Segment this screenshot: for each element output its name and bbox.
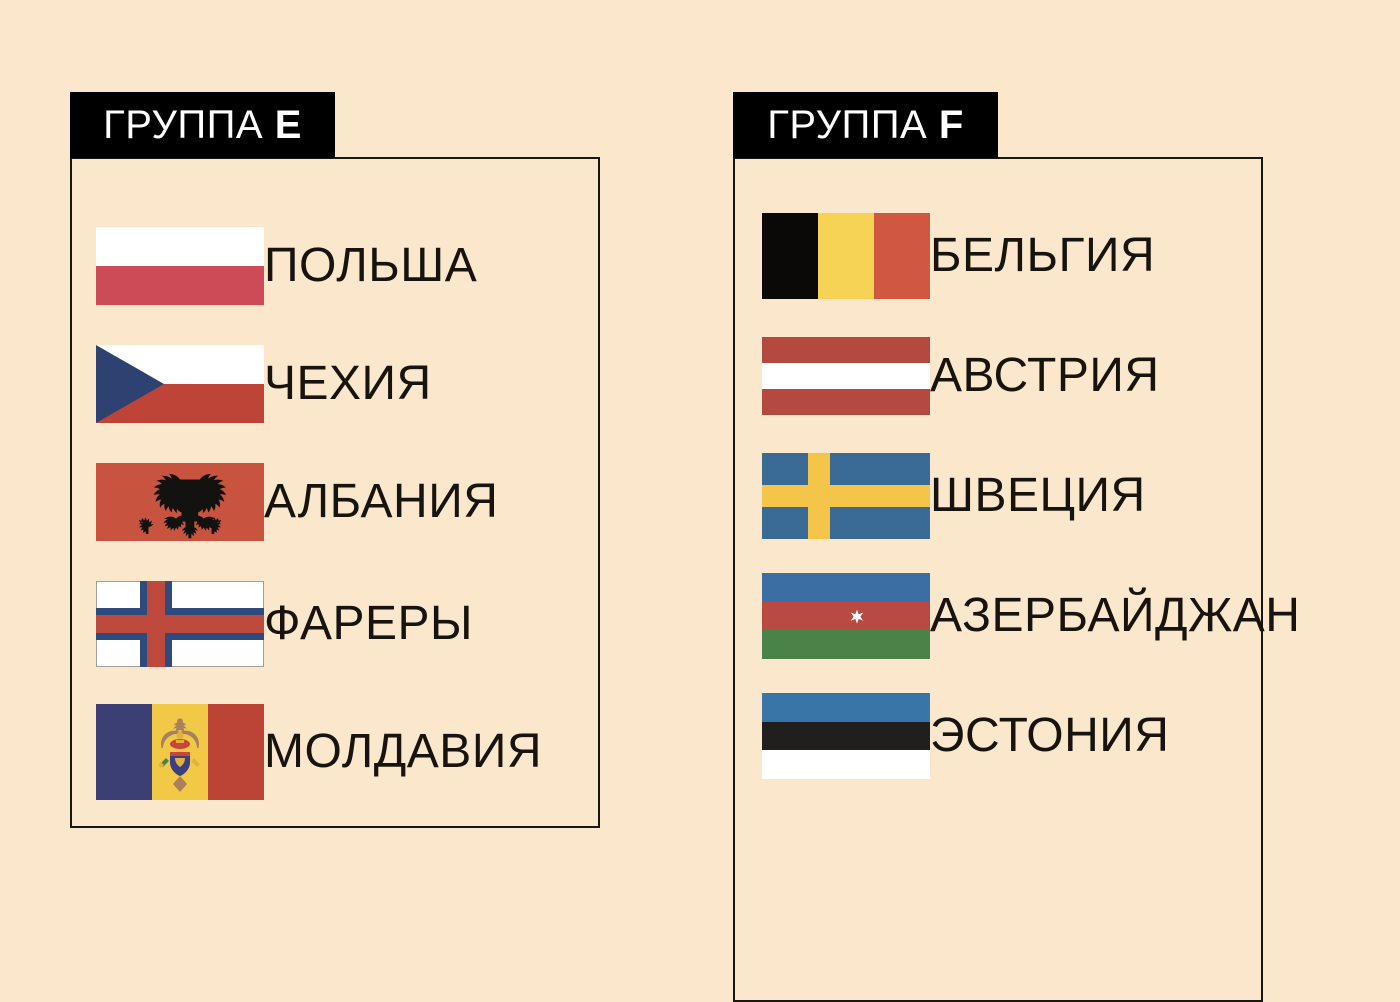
estonia-stripe-white — [762, 750, 930, 779]
poland-flag — [96, 227, 264, 305]
team-row-belgium[interactable]: БЕЛЬГИЯ — [762, 201, 1155, 311]
team-row-albania[interactable]: АЛБАНИЯ — [96, 447, 498, 557]
team-row-poland[interactable]: ПОЛЬША — [96, 211, 477, 321]
poland-stripe-red — [96, 266, 264, 305]
team-name-belgium: БЕЛЬГИЯ — [930, 232, 1155, 280]
team-name-estonia: ЭСТОНИЯ — [930, 712, 1169, 760]
poland-flag-slot — [96, 211, 264, 321]
team-name-czechia: ЧЕХИЯ — [264, 360, 432, 408]
estonia-flag-slot — [762, 681, 930, 791]
estonia-stripe-black — [762, 722, 930, 751]
austria-flag-slot — [762, 321, 930, 431]
team-name-faroe: ФАРЕРЫ — [264, 600, 473, 648]
team-row-austria[interactable]: АВСТРИЯ — [762, 321, 1160, 431]
estonia-flag — [762, 693, 930, 779]
moldova-coat-of-arms-icon — [152, 704, 208, 800]
azerbaijan-crescent-star-icon — [816, 601, 876, 631]
moldova-flag-slot — [96, 697, 264, 807]
group-panel-e: ГРУППА E ПОЛЬША — [70, 92, 600, 828]
belgium-stripe-red — [874, 213, 930, 299]
belgium-flag-slot — [762, 201, 930, 311]
czechia-flag-slot — [96, 329, 264, 439]
team-row-moldova[interactable]: МОЛДАВИЯ — [96, 697, 542, 807]
moldova-stripe-blue — [96, 704, 152, 800]
group-f-header: ГРУППА F — [733, 92, 998, 158]
group-f-title-prefix: ГРУППА — [767, 103, 927, 147]
faroe-cross-horizontal-red — [96, 615, 264, 633]
belgium-flag — [762, 213, 930, 299]
group-e-title: ГРУППА E — [103, 105, 302, 145]
azerbaijan-flag — [762, 573, 930, 659]
team-name-austria: АВСТРИЯ — [930, 352, 1160, 400]
austria-flag — [762, 337, 930, 415]
albania-flag-slot — [96, 447, 264, 557]
sweden-flag-slot — [762, 441, 930, 551]
team-name-sweden: ШВЕЦИЯ — [930, 472, 1146, 520]
tournament-groups-board: ГРУППА E ПОЛЬША — [0, 0, 1400, 934]
moldova-stripe-red — [208, 704, 264, 800]
team-row-azerbaijan[interactable]: АЗЕРБАЙДЖАН — [762, 561, 1300, 671]
faroe-islands-flag — [96, 581, 264, 667]
team-row-sweden[interactable]: ШВЕЦИЯ — [762, 441, 1146, 551]
group-e-title-prefix: ГРУППА — [103, 103, 263, 147]
czechia-blue-triangle — [96, 345, 164, 423]
azerbaijan-stripe-green — [762, 630, 930, 659]
group-f-title-letter: F — [939, 103, 964, 147]
sweden-cross-horizontal — [762, 485, 930, 507]
sweden-flag — [762, 453, 930, 539]
austria-stripe-red-bottom — [762, 389, 930, 415]
team-name-moldova: МОЛДАВИЯ — [264, 728, 542, 776]
austria-stripe-white — [762, 363, 930, 389]
team-name-albania: АЛБАНИЯ — [264, 478, 498, 526]
belgium-stripe-black — [762, 213, 818, 299]
czechia-flag — [96, 345, 264, 423]
group-f-title: ГРУППА F — [767, 105, 964, 145]
poland-stripe-white — [96, 227, 264, 266]
belgium-stripe-yellow — [818, 213, 874, 299]
moldova-flag — [96, 704, 264, 800]
group-panel-f: ГРУППА F БЕЛЬГИЯ — [733, 92, 1263, 934]
team-name-poland: ПОЛЬША — [264, 242, 477, 290]
team-row-czechia[interactable]: ЧЕХИЯ — [96, 329, 432, 439]
team-row-faroe[interactable]: ФАРЕРЫ — [96, 569, 473, 679]
estonia-stripe-blue — [762, 693, 930, 722]
team-name-azerbaijan: АЗЕРБАЙДЖАН — [930, 592, 1300, 640]
group-e-header: ГРУППА E — [70, 92, 335, 158]
austria-stripe-red-top — [762, 337, 930, 363]
albania-eagle-icon — [96, 463, 264, 541]
group-e-title-letter: E — [275, 103, 302, 147]
team-row-estonia[interactable]: ЭСТОНИЯ — [762, 681, 1169, 791]
albania-flag — [96, 463, 264, 541]
faroe-flag-slot — [96, 569, 264, 679]
azerbaijan-stripe-blue — [762, 573, 930, 602]
azerbaijan-flag-slot — [762, 561, 930, 671]
